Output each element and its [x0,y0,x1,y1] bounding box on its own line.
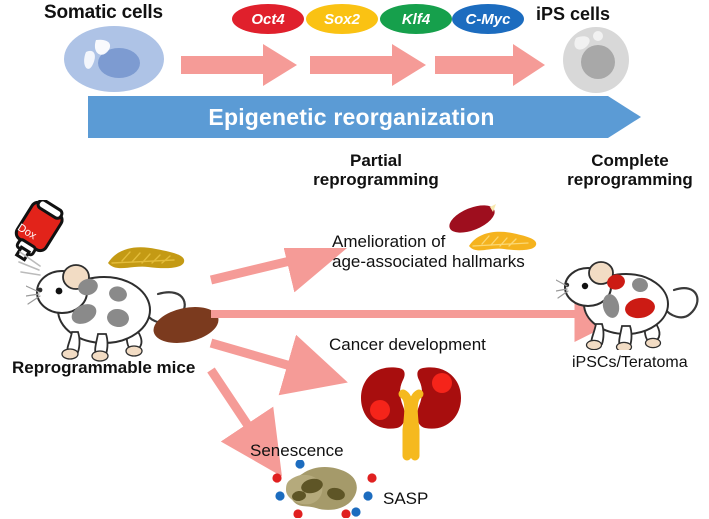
gene-oval-cmyc: C-Myc [452,4,524,34]
gene-oval-oct4: Oct4 [232,4,304,34]
senescent-cell-icon [272,460,382,518]
gene-label: Klf4 [402,11,430,28]
banner-label: Epigenetic reorganization [88,96,641,138]
reprogramming-arrow-3 [435,44,545,86]
ips-cells-label: iPS cells [536,4,610,24]
gene-label: Oct4 [251,11,284,28]
kidneys-icon [355,358,467,462]
somatic-cells-label: Somatic cells [44,2,163,23]
sasp-label: SASP [383,489,428,508]
complete-heading-line2: reprogramming [551,170,709,189]
partial-heading-line1: Partial [301,151,451,170]
ips-cell-icon [552,24,640,96]
reprogramming-arrow-1 [181,44,297,86]
figure-canvas: Somatic cells iPS cells Oct4 Sox2 Klf4 C… [0,0,709,519]
amelioration-line2: age-associated hallmarks [332,252,592,272]
gene-oval-sox2: Sox2 [306,4,378,34]
amelioration-line1: Amelioration of [332,232,592,252]
complete-reprogramming-heading: Complete reprogramming [551,151,709,189]
teratoma-mouse-icon [556,252,708,350]
reprogrammable-mice-label: Reprogrammable mice [12,358,195,377]
partial-heading-line2: reprogramming [301,170,451,189]
senescence-label: Senescence [250,441,344,460]
gene-label: C-Myc [465,11,510,28]
cancer-development-label: Cancer development [329,335,486,354]
complete-heading-line1: Complete [551,151,709,170]
gene-label: Sox2 [324,11,360,28]
somatic-cell-icon [56,22,172,96]
ipsc-teratoma-label: iPSCs/Teratoma [572,354,688,372]
epigenetic-reorganization-banner: Epigenetic reorganization [88,96,641,138]
gene-oval-klf4: Klf4 [380,4,452,34]
amelioration-outcome-label: Amelioration of age-associated hallmarks [332,232,592,272]
partial-reprogramming-heading: Partial reprogramming [301,151,451,189]
reprogramming-arrow-2 [310,44,426,86]
pancreas-icon [104,243,188,277]
